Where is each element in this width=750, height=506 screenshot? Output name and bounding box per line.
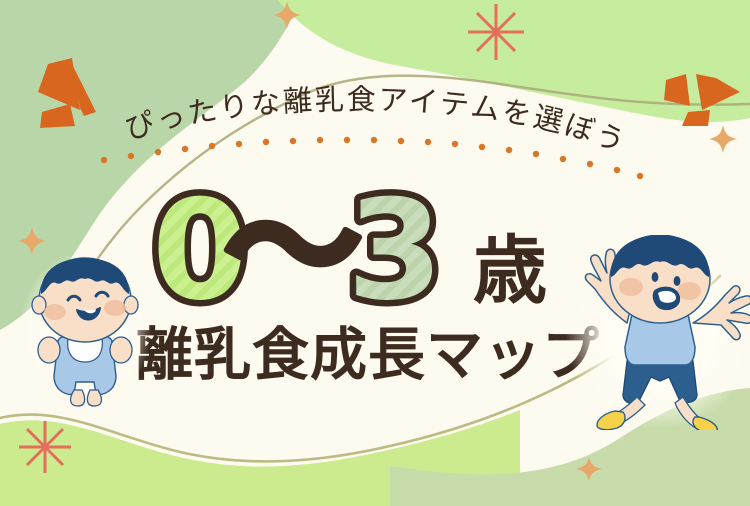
title-range-mark: 〜 — [224, 168, 362, 329]
baby-ear-left — [32, 296, 46, 314]
boy-right-character — [565, 235, 750, 430]
baby-leg-left — [71, 390, 85, 406]
baby-leg-right — [87, 390, 101, 406]
title-number-end: 3 — [347, 170, 443, 331]
baby-arm-right — [110, 337, 132, 363]
boy-eye-right — [674, 276, 681, 286]
asterisk-top-icon — [468, 4, 524, 60]
baby-left-character — [18, 250, 153, 410]
sparkle-bottom-right-icon — [576, 457, 602, 481]
title-line2: 離乳食成長マップ — [136, 322, 600, 388]
boy-cheek-right — [677, 282, 701, 300]
baby-cheek-left — [44, 304, 66, 320]
banner-root: ぴったりな離乳食アイテムを選ぼう 0 〜 3 歳 離乳食成長マップ — [0, 0, 750, 506]
boy-shoe-left — [597, 411, 625, 430]
boy-cheek-left — [619, 278, 643, 296]
asterisk-bottom-left-icon — [19, 421, 71, 473]
bottom-left-green-wave — [0, 410, 520, 506]
baby-arm-left — [38, 337, 60, 363]
sparkle-top-center-icon — [273, 1, 301, 29]
boy-shoe-right — [693, 417, 717, 430]
baby-ear-right — [124, 296, 138, 314]
title-unit-kanji: 歳 — [473, 228, 547, 314]
boy-eye-left — [652, 272, 659, 282]
subtitle-text: ぴったりな離乳食アイテムを選ぼう — [121, 82, 632, 160]
baby-cheek-right — [104, 300, 126, 316]
